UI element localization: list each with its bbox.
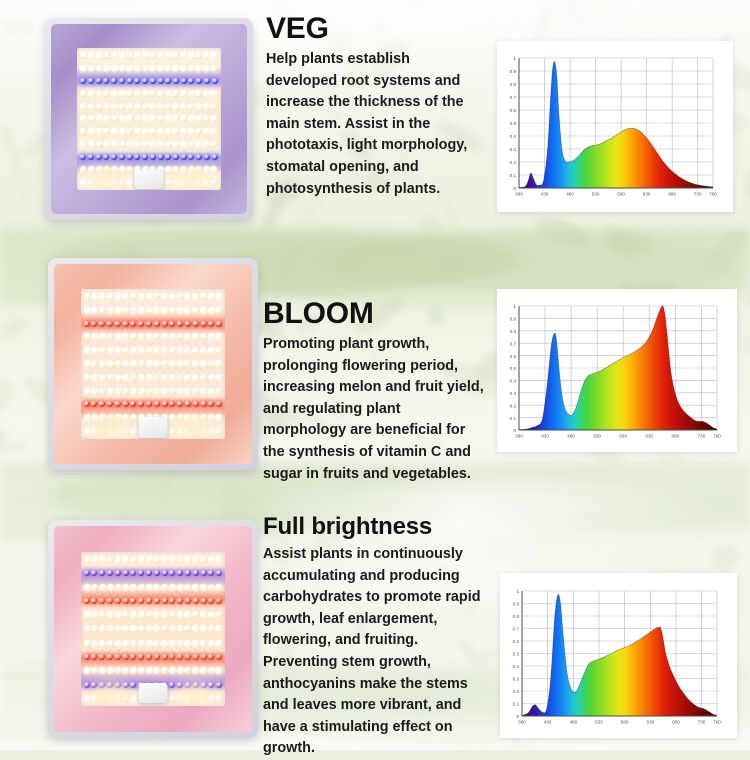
led-dot xyxy=(119,115,126,122)
led-row xyxy=(80,154,217,160)
led-dot xyxy=(169,625,176,632)
led-dot xyxy=(177,293,184,300)
led-dot xyxy=(172,52,179,59)
led-dot xyxy=(154,570,160,576)
led-dot xyxy=(165,141,172,148)
led-dot xyxy=(200,556,207,563)
led-dot xyxy=(111,78,117,84)
bloom-body: Promoting plant growth, prolonging flowe… xyxy=(263,334,485,485)
led-dot xyxy=(88,103,95,110)
led-dot xyxy=(122,611,129,618)
led-dot xyxy=(162,598,168,604)
led-dot xyxy=(115,333,122,340)
led-dot xyxy=(215,584,222,591)
full-brightness-spectrum-chart: 00.10.20.30.40.50.60.70.80.9138043048053… xyxy=(500,573,737,738)
veg-panel-bezel xyxy=(51,24,247,214)
led-dot xyxy=(180,103,187,110)
led-dot xyxy=(161,640,168,647)
led-dot xyxy=(177,570,183,576)
led-dot xyxy=(130,401,136,407)
bloom-driver-box xyxy=(139,417,168,438)
led-dot xyxy=(201,598,207,604)
led-dot xyxy=(184,333,191,340)
bloom-hotspot-right xyxy=(176,418,214,436)
led-row xyxy=(84,388,223,395)
led-dot xyxy=(173,78,179,84)
led-dot xyxy=(169,388,176,395)
led-dot xyxy=(107,347,114,354)
led-dot xyxy=(80,179,87,186)
led-dot xyxy=(134,52,141,59)
led-dot xyxy=(201,401,207,407)
svg-text:680: 680 xyxy=(668,192,676,197)
led-dot xyxy=(99,556,106,563)
led-dot xyxy=(203,141,210,148)
svg-text:580: 580 xyxy=(621,720,629,725)
led-dot xyxy=(130,667,137,674)
led-dot xyxy=(146,640,153,647)
led-dot xyxy=(138,640,145,647)
led-dot xyxy=(130,360,137,367)
led-row xyxy=(84,598,223,604)
led-dot xyxy=(215,360,222,367)
led-dot xyxy=(188,154,194,160)
led-dot xyxy=(216,682,222,688)
led-dot xyxy=(130,321,136,327)
led-dot xyxy=(138,333,145,340)
veg-led-board xyxy=(77,48,220,191)
led-dot xyxy=(153,611,160,618)
full-brightness-text-column: Full brightness Assist plants in continu… xyxy=(263,515,491,760)
led-dot xyxy=(215,640,222,647)
led-dot xyxy=(122,293,129,300)
led-dot xyxy=(91,347,98,354)
led-dot xyxy=(169,640,176,647)
led-dot xyxy=(169,695,176,702)
led-dot xyxy=(215,293,222,300)
led-dot xyxy=(138,347,145,354)
led-dot xyxy=(192,374,199,381)
led-dot xyxy=(180,128,187,135)
led-dot xyxy=(80,154,86,160)
led-dot xyxy=(215,695,222,702)
led-dot xyxy=(172,141,179,148)
led-row xyxy=(84,556,223,563)
led-dot xyxy=(146,654,152,660)
led-dot xyxy=(184,584,191,591)
led-dot xyxy=(99,307,106,314)
led-dot xyxy=(177,388,184,395)
led-dot xyxy=(96,78,102,84)
bloom-title: BLOOM xyxy=(263,299,485,329)
svg-text:0: 0 xyxy=(513,428,516,433)
led-dot xyxy=(130,611,137,618)
led-dot xyxy=(200,640,207,647)
led-dot xyxy=(149,141,156,148)
veg-led-panel[interactable] xyxy=(45,18,253,220)
led-dot xyxy=(195,128,202,135)
led-dot xyxy=(177,640,184,647)
led-dot xyxy=(138,598,144,604)
led-dot xyxy=(158,78,164,84)
svg-text:0.4: 0.4 xyxy=(510,134,517,139)
led-dot xyxy=(169,321,175,327)
led-dot xyxy=(184,667,191,674)
svg-text:680: 680 xyxy=(672,720,680,725)
led-dot xyxy=(215,307,222,314)
led-dot xyxy=(138,293,145,300)
led-dot xyxy=(146,307,153,314)
led-dot xyxy=(88,128,95,135)
led-dot xyxy=(192,388,199,395)
led-dot xyxy=(192,640,199,647)
led-row xyxy=(80,141,217,148)
led-row xyxy=(84,321,223,327)
led-dot xyxy=(107,667,114,674)
led-dot xyxy=(138,654,144,660)
led-dot xyxy=(192,556,199,563)
led-dot xyxy=(80,65,87,72)
led-dot xyxy=(91,584,98,591)
led-dot xyxy=(99,333,106,340)
led-dot xyxy=(177,307,184,314)
led-dot xyxy=(115,293,122,300)
led-dot xyxy=(142,65,149,72)
led-dot xyxy=(184,293,191,300)
led-dot xyxy=(210,179,217,186)
led-dot xyxy=(157,52,164,59)
svg-text:0.9: 0.9 xyxy=(513,602,520,607)
led-row xyxy=(84,347,223,354)
led-dot xyxy=(161,307,168,314)
led-dot xyxy=(111,90,118,97)
led-dot xyxy=(188,103,195,110)
veg-spectrum-card[interactable]: 00.10.20.30.40.50.60.70.80.9138043048053… xyxy=(497,41,733,212)
led-dot xyxy=(208,584,215,591)
svg-text:680: 680 xyxy=(671,434,679,439)
led-dot xyxy=(173,154,179,160)
led-dot xyxy=(215,667,222,674)
led-dot xyxy=(203,103,210,110)
svg-text:730: 730 xyxy=(694,192,702,197)
led-dot xyxy=(165,65,172,72)
svg-text:430: 430 xyxy=(544,720,552,725)
led-dot xyxy=(200,360,207,367)
led-row xyxy=(84,360,223,367)
led-dot xyxy=(193,598,199,604)
led-row xyxy=(84,333,223,340)
led-dot xyxy=(165,78,171,84)
led-dot xyxy=(84,428,91,435)
led-dot xyxy=(208,293,215,300)
led-dot xyxy=(91,556,98,563)
led-dot xyxy=(188,52,195,59)
led-dot xyxy=(122,667,129,674)
led-dot xyxy=(153,667,160,674)
led-dot xyxy=(126,65,133,72)
led-dot xyxy=(84,333,91,340)
led-dot xyxy=(177,584,184,591)
led-dot xyxy=(149,52,156,59)
led-dot xyxy=(149,115,156,122)
led-row xyxy=(80,65,217,72)
led-dot xyxy=(195,90,202,97)
led-row xyxy=(84,625,223,632)
led-dot xyxy=(91,321,97,327)
led-dot xyxy=(99,611,106,618)
led-dot xyxy=(134,103,141,110)
led-dot xyxy=(172,90,179,97)
led-dot xyxy=(215,414,222,421)
svg-text:380: 380 xyxy=(515,192,523,197)
svg-text:430: 430 xyxy=(541,434,549,439)
led-dot xyxy=(88,65,95,72)
led-dot xyxy=(96,128,103,135)
led-dot xyxy=(103,90,110,97)
led-dot xyxy=(91,625,98,632)
led-dot xyxy=(177,321,183,327)
led-dot xyxy=(153,307,160,314)
led-dot xyxy=(208,388,215,395)
led-dot xyxy=(99,360,106,367)
full-driver-box xyxy=(139,683,168,703)
led-dot xyxy=(208,556,215,563)
svg-text:730: 730 xyxy=(698,434,706,439)
led-dot xyxy=(84,654,90,660)
led-dot xyxy=(138,556,145,563)
bloom-led-panel[interactable] xyxy=(48,258,258,470)
led-dot xyxy=(165,128,172,135)
bloom-led-board xyxy=(81,289,226,439)
led-dot xyxy=(200,667,207,674)
led-dot xyxy=(107,654,113,660)
led-dot xyxy=(196,78,202,84)
led-dot xyxy=(154,598,160,604)
led-dot xyxy=(184,625,191,632)
led-dot xyxy=(169,347,176,354)
led-dot xyxy=(130,556,137,563)
led-dot xyxy=(80,78,86,84)
led-dot xyxy=(193,321,199,327)
led-dot xyxy=(210,65,217,72)
led-dot xyxy=(115,556,122,563)
svg-text:480: 480 xyxy=(566,192,574,197)
led-dot xyxy=(177,333,184,340)
led-row xyxy=(80,90,217,97)
full-brightness-spectrum-card[interactable]: 00.10.20.30.40.50.60.70.80.9138043048053… xyxy=(500,573,737,738)
led-dot xyxy=(208,374,215,381)
led-dot xyxy=(153,584,160,591)
led-dot xyxy=(99,321,105,327)
led-dot xyxy=(192,360,199,367)
led-dot xyxy=(123,570,129,576)
led-dot xyxy=(161,667,168,674)
led-dot xyxy=(130,428,137,435)
bloom-spectrum-card[interactable]: 00.10.20.30.40.50.60.70.80.9138043048053… xyxy=(497,289,737,452)
led-dot xyxy=(177,360,184,367)
led-dot xyxy=(203,128,210,135)
led-dot xyxy=(99,640,106,647)
led-dot xyxy=(138,570,144,576)
led-dot xyxy=(192,611,199,618)
led-dot xyxy=(195,52,202,59)
led-dot xyxy=(142,115,149,122)
led-dot xyxy=(84,640,91,647)
led-dot xyxy=(142,52,149,59)
led-dot xyxy=(185,654,191,660)
led-dot xyxy=(208,321,214,327)
led-dot xyxy=(130,598,136,604)
led-dot xyxy=(84,611,91,618)
led-dot xyxy=(107,556,114,563)
led-dot xyxy=(169,667,176,674)
led-dot xyxy=(188,141,195,148)
led-dot xyxy=(88,141,95,148)
led-dot xyxy=(195,141,202,148)
led-dot xyxy=(161,584,168,591)
svg-text:430: 430 xyxy=(541,192,549,197)
led-dot xyxy=(91,401,97,407)
led-dot xyxy=(84,695,91,702)
led-dot xyxy=(146,333,153,340)
led-dot xyxy=(169,611,176,618)
led-dot xyxy=(130,584,137,591)
svg-text:0.2: 0.2 xyxy=(510,160,517,165)
led-dot xyxy=(111,128,118,135)
full-brightness-led-panel[interactable] xyxy=(48,520,258,738)
led-dot xyxy=(126,128,133,135)
section-veg: VEG Help plants establish developed root… xyxy=(0,0,750,250)
svg-text:0.2: 0.2 xyxy=(510,403,517,408)
led-dot xyxy=(91,640,98,647)
bloom-text-column: BLOOM Promoting plant growth, prolonging… xyxy=(263,299,485,485)
led-dot xyxy=(177,556,184,563)
led-dot xyxy=(210,115,217,122)
led-dot xyxy=(130,347,137,354)
led-dot xyxy=(193,570,199,576)
led-dot xyxy=(192,307,199,314)
led-dot xyxy=(161,388,168,395)
led-dot xyxy=(134,154,140,160)
led-dot xyxy=(84,360,91,367)
led-dot xyxy=(80,166,87,173)
led-dot xyxy=(103,65,110,72)
led-dot xyxy=(161,625,168,632)
led-dot xyxy=(208,307,215,314)
led-dot xyxy=(107,625,114,632)
led-dot xyxy=(172,103,179,110)
led-dot xyxy=(126,115,133,122)
led-dot xyxy=(88,115,95,122)
led-dot xyxy=(99,293,106,300)
led-dot xyxy=(200,388,207,395)
led-dot xyxy=(177,611,184,618)
led-dot xyxy=(107,360,114,367)
led-dot xyxy=(169,360,176,367)
led-dot xyxy=(91,667,98,674)
led-dot xyxy=(169,414,176,421)
led-dot xyxy=(200,333,207,340)
led-dot xyxy=(134,65,141,72)
led-dot xyxy=(123,654,129,660)
led-dot xyxy=(99,667,106,674)
svg-text:1: 1 xyxy=(513,304,516,309)
svg-text:0.7: 0.7 xyxy=(510,341,517,346)
led-dot xyxy=(99,347,106,354)
led-dot xyxy=(180,65,187,72)
led-dot xyxy=(185,598,191,604)
svg-text:0.1: 0.1 xyxy=(513,702,520,707)
led-dot xyxy=(130,388,137,395)
led-dot xyxy=(210,90,217,97)
led-dot xyxy=(122,640,129,647)
led-dot xyxy=(169,307,176,314)
svg-text:480: 480 xyxy=(569,720,577,725)
led-dot xyxy=(111,141,118,148)
led-dot xyxy=(149,128,156,135)
led-dot xyxy=(122,374,129,381)
led-dot xyxy=(208,360,215,367)
led-dot xyxy=(149,103,156,110)
led-dot xyxy=(195,115,202,122)
led-dot xyxy=(126,90,133,97)
led-dot xyxy=(216,570,222,576)
led-dot xyxy=(91,598,97,604)
led-dot xyxy=(200,347,207,354)
svg-text:0.3: 0.3 xyxy=(510,147,517,152)
led-dot xyxy=(192,347,199,354)
led-dot xyxy=(111,154,117,160)
led-dot xyxy=(122,307,129,314)
led-dot xyxy=(122,625,129,632)
veg-text-column: VEG Help plants establish developed root… xyxy=(266,14,481,200)
led-dot xyxy=(80,141,87,148)
veg-led-grid xyxy=(77,48,220,191)
led-dot xyxy=(169,401,175,407)
svg-text:730: 730 xyxy=(698,720,706,725)
veg-driver-box xyxy=(135,170,164,189)
led-dot xyxy=(184,360,191,367)
svg-text:0.2: 0.2 xyxy=(513,689,520,694)
svg-text:1: 1 xyxy=(513,56,516,61)
led-dot xyxy=(208,654,214,660)
led-dot xyxy=(80,103,87,110)
led-dot xyxy=(215,428,222,435)
led-dot xyxy=(119,103,126,110)
led-dot xyxy=(153,333,160,340)
led-dot xyxy=(200,611,207,618)
led-dot xyxy=(177,401,183,407)
svg-text:0.3: 0.3 xyxy=(510,391,517,396)
led-dot xyxy=(146,401,152,407)
led-dot xyxy=(200,293,207,300)
led-dot xyxy=(161,293,168,300)
led-dot xyxy=(208,570,214,576)
led-dot xyxy=(103,115,110,122)
led-row xyxy=(80,115,217,122)
section-full-brightness: Full brightness Assist plants in continu… xyxy=(0,505,750,750)
led-dot xyxy=(134,90,141,97)
led-dot xyxy=(88,90,95,97)
led-dot xyxy=(154,401,160,407)
led-dot xyxy=(195,103,202,110)
led-dot xyxy=(115,667,122,674)
led-dot xyxy=(184,388,191,395)
led-dot xyxy=(161,374,168,381)
led-dot xyxy=(115,611,122,618)
led-dot xyxy=(142,141,149,148)
led-dot xyxy=(180,115,187,122)
